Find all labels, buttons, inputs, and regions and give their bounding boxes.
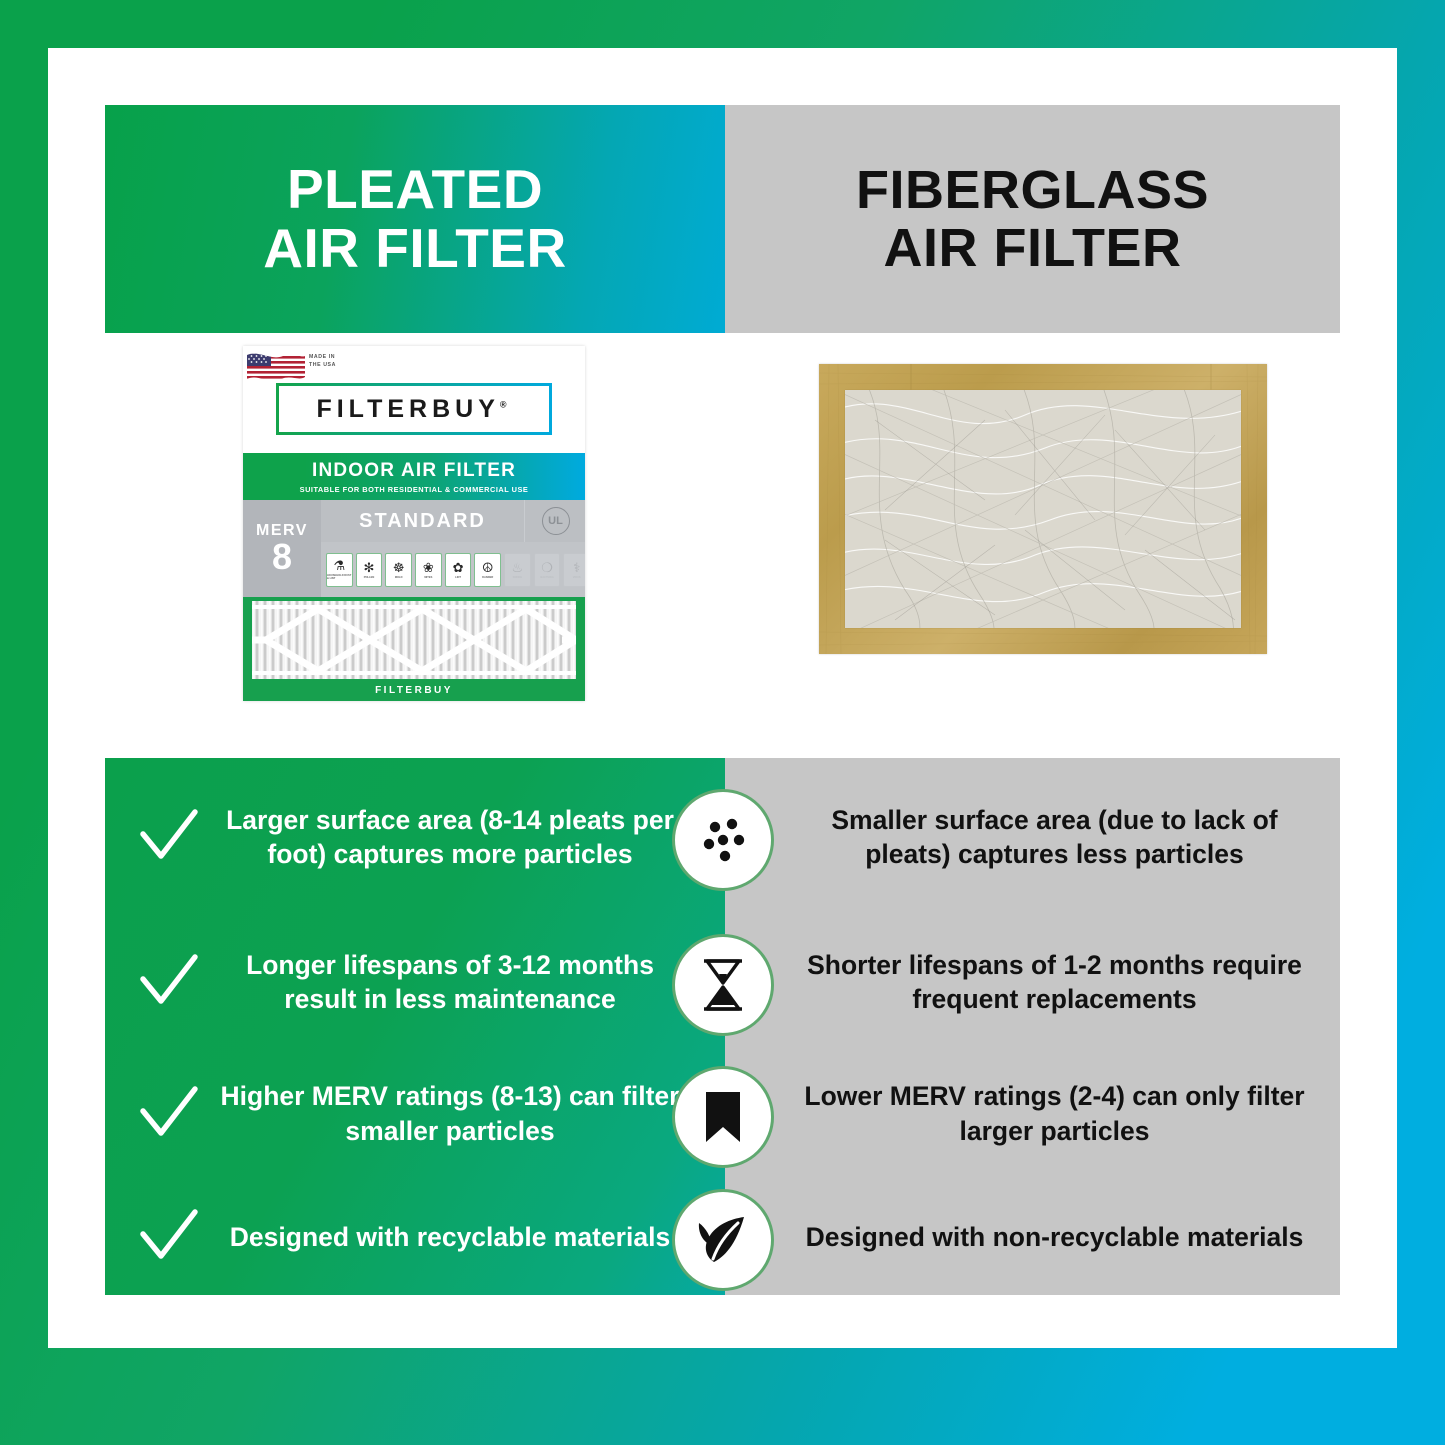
capture-icons-strip: ⚗HOUSEHOLD DUST & LINT✻POLLEN☸MOLD❀MITES… — [321, 542, 585, 597]
merv-value: 8 — [272, 539, 292, 575]
row-4-pleated-cell: Designed with recyclable materials — [105, 1206, 725, 1268]
product-footer-brand: FILTERBUY — [243, 679, 585, 701]
ul-mark: UL — [542, 507, 570, 535]
pollen-icon-caption: POLLEN — [364, 576, 375, 579]
dust-mites-icon: ❀MITES — [415, 553, 442, 587]
indoor-air-filter-band: INDOOR AIR FILTER SUITABLE FOR BOTH RESI… — [243, 453, 585, 500]
product-spec-strip: MERV 8 STANDARD UL ⚗HOUSEHOLD DUST & LIN… — [243, 500, 585, 597]
row-1-pleated-text: Larger surface area (8-14 pleats per foo… — [219, 803, 681, 872]
bacteria-virus-icon-caption: BACTERIA — [540, 576, 553, 579]
band-subtitle: SUITABLE FOR BOTH RESIDENTIAL & COMMERCI… — [300, 485, 529, 494]
dust-mites-icon-glyph: ❀ — [423, 561, 434, 574]
comparison-row: Higher MERV ratings (8-13) can filter sm… — [105, 1048, 1340, 1179]
mold-spores-icon-glyph: ☸ — [393, 561, 405, 574]
checkmark-icon — [137, 1206, 199, 1268]
header-fiberglass-line2: AIR FILTER — [856, 219, 1209, 277]
mold-spores-icon: ☸MOLD — [385, 553, 412, 587]
pollen-icon-glyph: ✻ — [364, 561, 375, 574]
content-area: PLEATED AIR FILTER FIBERGLASS AIR FILTER — [105, 105, 1340, 1295]
filterbuy-logo-text: FILTERBUY® — [316, 395, 511, 424]
row-1-pleated-cell: Larger surface area (8-14 pleats per foo… — [105, 803, 725, 872]
header-row: PLEATED AIR FILTER FIBERGLASS AIR FILTER — [105, 105, 1340, 333]
row-3-pleated-text: Higher MERV ratings (8-13) can filter sm… — [219, 1079, 681, 1148]
smoke-icon-caption: SMOKE — [513, 576, 523, 579]
smoke-icon-glyph: ♨ — [512, 561, 524, 574]
tier-label: STANDARD — [321, 500, 524, 543]
pleated-media-preview: FILTERBUY — [243, 597, 585, 701]
row-1-fiberglass-text: Smaller surface area (due to lack of ple… — [797, 803, 1312, 872]
dust-mites-icon-caption: MITES — [424, 576, 432, 579]
fiberglass-media — [845, 390, 1241, 628]
virus-icon-glyph: ⚕ — [573, 561, 580, 574]
leaf-icon — [672, 1189, 774, 1291]
virus-icon-caption: VIRUS — [573, 576, 581, 579]
comparison-row: Longer lifespans of 3-12 months result i… — [105, 916, 1340, 1048]
made-in-line1: MADE IN — [309, 354, 336, 362]
ul-certification-icon: UL — [524, 500, 585, 543]
mold-spores-icon-caption: MOLD — [395, 576, 403, 579]
pollen-icon: ✻POLLEN — [356, 553, 383, 587]
header-fiberglass-title: FIBERGLASS AIR FILTER — [856, 161, 1209, 278]
header-fiberglass: FIBERGLASS AIR FILTER — [725, 105, 1340, 333]
band-title: INDOOR AIR FILTER — [312, 460, 516, 482]
bacteria-icon: ✿LINT — [445, 553, 472, 587]
comparison-row: Larger surface area (8-14 pleats per foo… — [105, 758, 1340, 916]
header-pleated-title: PLEATED AIR FILTER — [263, 160, 566, 279]
infographic-frame: PLEATED AIR FILTER FIBERGLASS AIR FILTER — [0, 0, 1445, 1445]
row-3-pleated-cell: Higher MERV ratings (8-13) can filter sm… — [105, 1079, 725, 1148]
pleat-texture — [252, 601, 576, 679]
white-card: PLEATED AIR FILTER FIBERGLASS AIR FILTER — [48, 48, 1397, 1348]
row-2-pleated-text: Longer lifespans of 3-12 months result i… — [219, 948, 681, 1017]
logo-registered-mark: ® — [500, 399, 512, 409]
row-1-fiberglass-cell: Smaller surface area (due to lack of ple… — [725, 803, 1340, 872]
checkmark-icon — [137, 1083, 199, 1145]
merv-badge: MERV 8 — [243, 500, 322, 597]
bacteria-icon-caption: LINT — [455, 576, 461, 579]
bacteria-virus-icon: ❍BACTERIA — [534, 553, 561, 587]
bacteria-icon-glyph: ✿ — [453, 561, 464, 574]
made-in-usa-label: MADE IN THE USA — [309, 354, 336, 370]
row-4-fiberglass-cell: Designed with non-recyclable materials — [725, 1220, 1340, 1254]
hourglass-icon — [672, 934, 774, 1036]
row-3-fiberglass-text: Lower MERV ratings (2-4) can only filter… — [797, 1079, 1312, 1148]
household-dust-icon: ⚗HOUSEHOLD DUST & LINT — [326, 553, 353, 587]
fiberglass-filter-product-image — [819, 364, 1267, 654]
household-dust-icon-glyph: ⚗ — [334, 559, 346, 572]
checkmark-icon — [137, 951, 199, 1013]
household-dust-icon-caption: HOUSEHOLD DUST & LINT — [327, 574, 352, 580]
bookmark-icon — [672, 1066, 774, 1168]
row-2-fiberglass-cell: Shorter lifespans of 1-2 months require … — [725, 948, 1340, 1017]
particles-icon — [672, 789, 774, 891]
pleated-filter-product-image: MADE IN THE USA FILTERBUY® INDOOR AIR FI… — [243, 346, 585, 701]
smoke-icon: ♨SMOKE — [504, 553, 531, 587]
row-4-pleated-text: Designed with recyclable materials — [219, 1220, 681, 1254]
row-4-fiberglass-text: Designed with non-recyclable materials — [806, 1220, 1304, 1254]
virus-icon: ⚕VIRUS — [563, 553, 585, 587]
filterbuy-logo-box: FILTERBUY® — [276, 383, 552, 435]
row-2-fiberglass-text: Shorter lifespans of 1-2 months require … — [797, 948, 1312, 1017]
comparison-rows: Larger surface area (8-14 pleats per foo… — [105, 758, 1340, 1295]
pet-dander-icon: ☮DANDER — [474, 553, 501, 587]
row-2-pleated-cell: Longer lifespans of 3-12 months result i… — [105, 948, 725, 1017]
header-pleated-line2: AIR FILTER — [263, 219, 566, 278]
header-pleated: PLEATED AIR FILTER — [105, 105, 725, 333]
pet-dander-icon-glyph: ☮ — [482, 561, 494, 574]
product-image-band: MADE IN THE USA FILTERBUY® INDOOR AIR FI… — [105, 333, 1340, 758]
comparison-row: Designed with recyclable materials Desig… — [105, 1179, 1340, 1295]
made-in-line2: THE USA — [309, 362, 336, 370]
header-pleated-line1: PLEATED — [263, 160, 566, 219]
header-fiberglass-line1: FIBERGLASS — [856, 161, 1209, 219]
product-box-top: MADE IN THE USA FILTERBUY® — [243, 346, 585, 453]
pet-dander-icon-caption: DANDER — [482, 576, 493, 579]
fiberglass-fiber-texture — [845, 390, 1241, 628]
bacteria-virus-icon-glyph: ❍ — [541, 561, 553, 574]
checkmark-icon — [137, 806, 199, 868]
row-3-fiberglass-cell: Lower MERV ratings (2-4) can only filter… — [725, 1079, 1340, 1148]
support-wire-pattern — [252, 601, 576, 679]
